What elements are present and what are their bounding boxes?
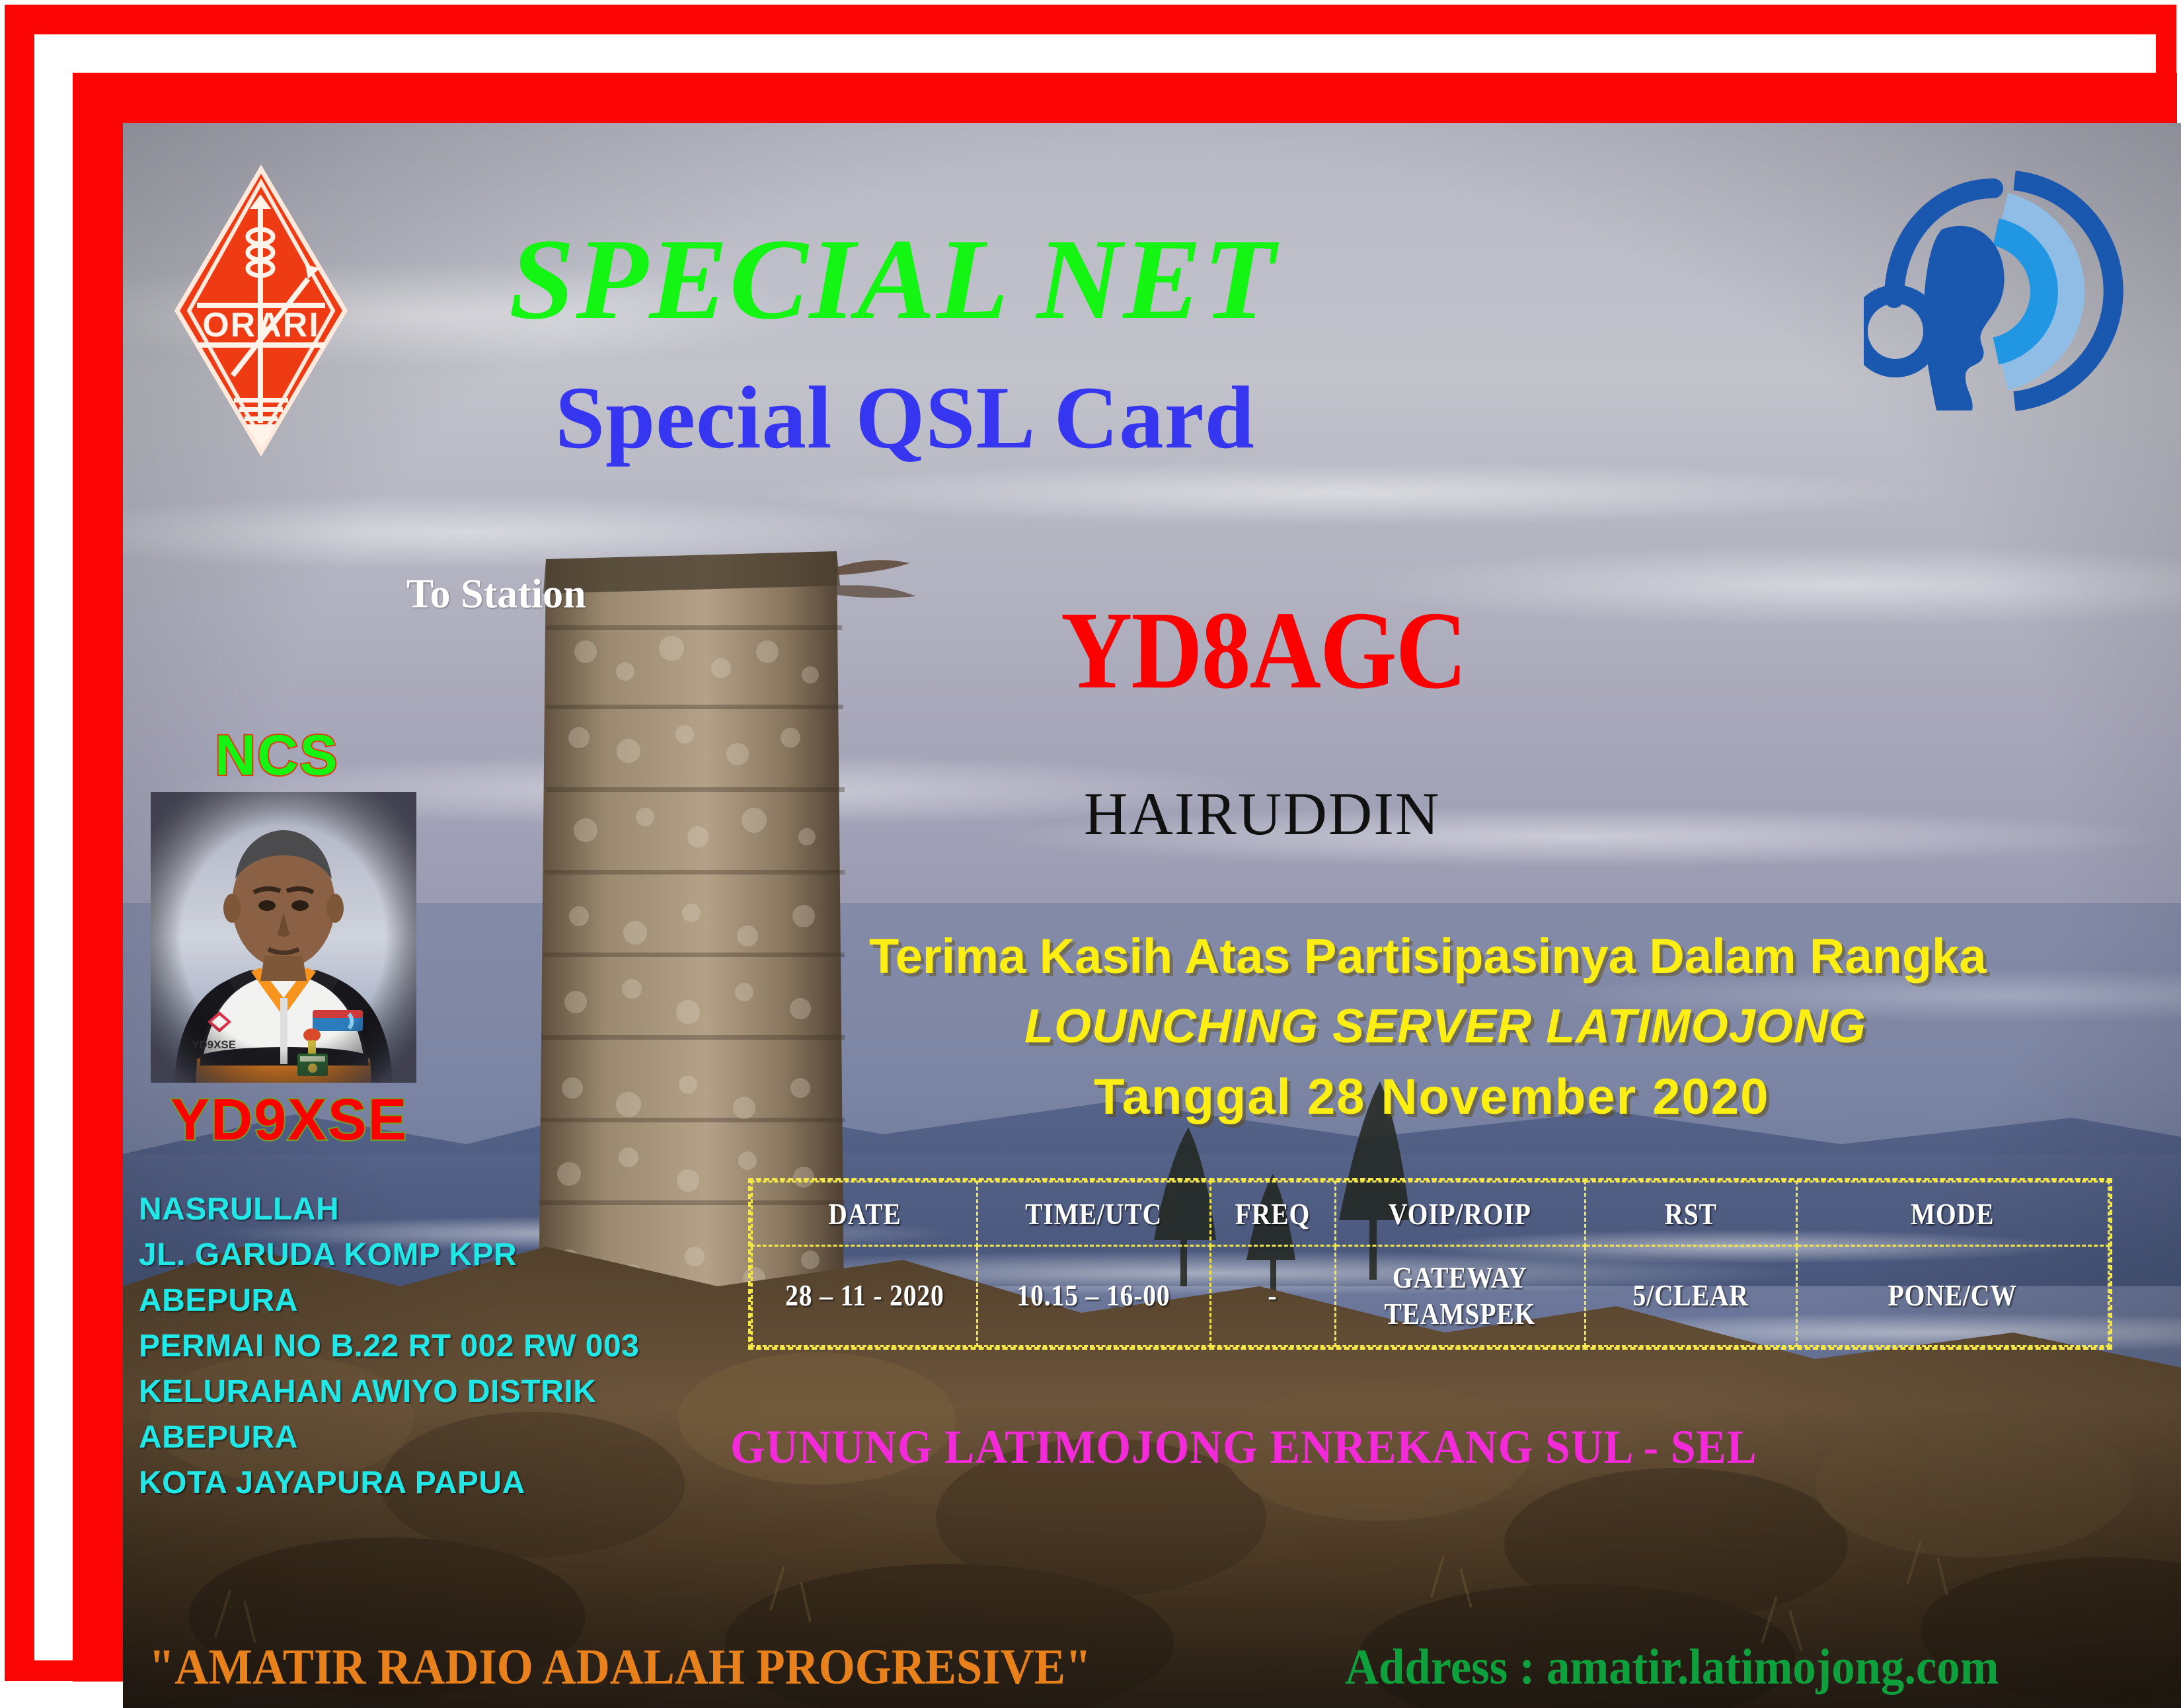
column-header-mode: MODE: [1818, 1182, 2086, 1246]
svg-text:ORARI: ORARI: [202, 306, 320, 344]
station-callsign: YD8AGC: [1061, 595, 1466, 706]
table-header-row: DATE TIME/UTC FREQ VOIP/ROIP RST MODE: [752, 1182, 2109, 1246]
qsl-card: ORARI: [0, 0, 2181, 1686]
orari-logo: ORARI: [172, 165, 350, 456]
page-title: SPECIAL NET: [509, 221, 1276, 337]
operator-name: HAIRUDDIN: [1084, 783, 1440, 844]
ncs-callsign: YD9XSE: [171, 1091, 408, 1149]
address-line: ABEPURA: [139, 1419, 639, 1456]
table-row: 28 – 11 - 2020 10.15 – 16-00 - GATEWAY T…: [752, 1246, 2109, 1346]
address-line: PERMAI NO B.22 RT 002 RW 003: [139, 1328, 639, 1364]
headphone-profile-logo: [1864, 169, 2141, 413]
ncs-operator-photo: YD9XSE: [151, 792, 416, 1083]
cell-time-utc: 10.15 – 16-00: [993, 1246, 1194, 1346]
column-header-rst: RST: [1599, 1182, 1781, 1246]
column-header-time-utc: TIME/UTC: [993, 1182, 1194, 1246]
event-name: LOUNCHING SERVER LATIMOJONG: [1024, 1003, 1866, 1050]
address-line: ABEPURA: [139, 1282, 639, 1319]
white-border-gap: ORARI: [34, 34, 2156, 1660]
column-header-date: DATE: [767, 1182, 961, 1246]
location-line: GUNUNG LATIMOJONG ENREKANG SUL - SEL: [730, 1423, 1757, 1471]
thanks-message: Terima Kasih Atas Partisipasinya Dalam R…: [869, 932, 1986, 981]
recipient-address-block: NASRULLAH JL. GARUDA KOMP KPR ABEPURA PE…: [139, 1191, 639, 1510]
address-line: KOTA JAYAPURA PAPUA: [139, 1465, 639, 1501]
cell-date: 28 – 11 - 2020: [767, 1246, 961, 1346]
footer-web-address: Address : amatir.latimojong.com: [1345, 1642, 1999, 1692]
column-header-freq: FREQ: [1219, 1182, 1326, 1246]
qso-log-table: DATE TIME/UTC FREQ VOIP/ROIP RST MODE 28…: [748, 1178, 2112, 1350]
event-date: Tanggal 28 November 2020: [1094, 1072, 1769, 1122]
cell-mode: PONE/CW: [1818, 1246, 2086, 1346]
to-station-label: To Station: [406, 574, 586, 615]
cell-voip-roip: GATEWAY TEAMSPEK: [1353, 1246, 1568, 1346]
address-line: NASRULLAH: [139, 1191, 639, 1227]
page-subtitle: Special QSL Card: [555, 373, 1255, 463]
cell-voip-roip-line2: TEAMSPEK: [1385, 1297, 1536, 1331]
address-line: JL. GARUDA KOMP KPR: [139, 1237, 639, 1273]
cell-rst: 5/CLEAR: [1599, 1246, 1781, 1346]
inner-red-border: ORARI: [73, 73, 2177, 1682]
address-line: KELURAHAN AWIYO DISTRIK: [139, 1374, 639, 1410]
cell-voip-roip-line1: GATEWAY: [1393, 1261, 1527, 1294]
footer-motto: "AMATIR RADIO ADALAH PROGRESIVE": [149, 1642, 1091, 1692]
outer-red-border: ORARI: [5, 5, 2176, 1681]
ncs-label: NCS: [215, 727, 339, 784]
column-header-voip-roip: VOIP/ROIP: [1353, 1182, 1568, 1246]
cell-freq: -: [1219, 1246, 1326, 1346]
